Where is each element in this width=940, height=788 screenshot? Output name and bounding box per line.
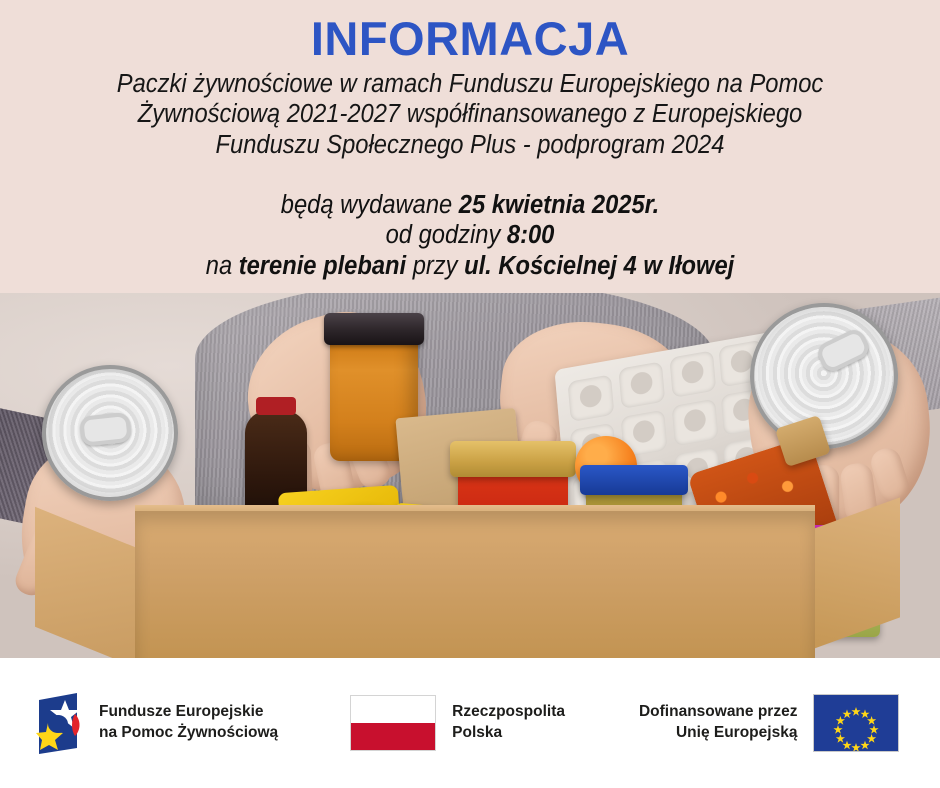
detail-place-address: ul. Kościelnej 4 w Iłowej (464, 252, 734, 280)
detail-time-value: 8:00 (507, 221, 554, 249)
distribution-details: będą wydawane 25 kwietnia 2025r. od godz… (33, 190, 907, 282)
detail-line-place: na terenie plebani przy ul. Kościelnej 4… (33, 251, 907, 282)
cola-bottle-cap (256, 397, 296, 415)
poster-subtitle: Paczki żywnościowe w ramach Funduszu Eur… (33, 69, 907, 159)
logo-rzeczpospolita-polska: Rzeczpospolita Polska (350, 695, 565, 751)
subtitle-line-2: Żywnościową 2021-2027 współfinansowanego… (33, 99, 907, 129)
eu-funds-flag-star-icon (35, 690, 85, 756)
cardboard-box (135, 511, 815, 658)
eu-line-2: Unię Europejską (639, 723, 797, 744)
eu-flag-icon (813, 694, 899, 752)
logo-dofinansowane-unia-europejska: Dofinansowane przez Unię Europejską (639, 694, 899, 752)
logo-dofinansowane-text: Dofinansowane przez Unię Europejską (639, 702, 797, 744)
funding-logo-bar: Fundusze Europejskie na Pomoc Żywnościow… (0, 658, 940, 788)
detail-line-date: będą wydawane 25 kwietnia 2025r. (33, 190, 907, 221)
poland-flag-icon (350, 695, 436, 751)
poster-text-area: INFORMACJA Paczki żywnościowe w ramach F… (0, 0, 940, 293)
food-donation-photo (0, 293, 940, 658)
logo-fundusze-europejskie: Fundusze Europejskie na Pomoc Żywnościow… (35, 690, 278, 756)
subtitle-line-1: Paczki żywnościowe w ramach Funduszu Eur… (33, 69, 907, 99)
fe-line-2: na Pomoc Żywnościową (99, 723, 278, 744)
blue-jar-lid (580, 465, 688, 495)
poster: INFORMACJA Paczki żywnościowe w ramach F… (0, 0, 940, 788)
detail-place-venue: terenie plebani (239, 252, 406, 280)
subtitle-line-3: Funduszu Społecznego Plus - podprogram 2… (33, 130, 907, 160)
logo-rzeczpospolita-polska-text: Rzeczpospolita Polska (452, 702, 565, 744)
pl-line-2: Polska (452, 723, 565, 744)
eu-line-1: Dofinansowane przez (639, 702, 797, 723)
detail-date-prefix: będą wydawane (281, 191, 459, 219)
fe-line-1: Fundusze Europejskie (99, 702, 278, 723)
detail-place-mid: przy (406, 252, 464, 280)
detail-line-time: od godziny 8:00 (33, 220, 907, 251)
jam-jar-lid (450, 441, 576, 477)
detail-place-prefix: na (206, 252, 239, 280)
honey-jar-lid (324, 313, 424, 345)
detail-time-prefix: od godziny (386, 221, 507, 249)
page-title: INFORMACJA (0, 0, 940, 63)
logo-fundusze-europejskie-text: Fundusze Europejskie na Pomoc Żywnościow… (99, 702, 278, 744)
pl-line-1: Rzeczpospolita (452, 702, 565, 723)
detail-date-value: 25 kwietnia 2025r. (459, 191, 659, 219)
